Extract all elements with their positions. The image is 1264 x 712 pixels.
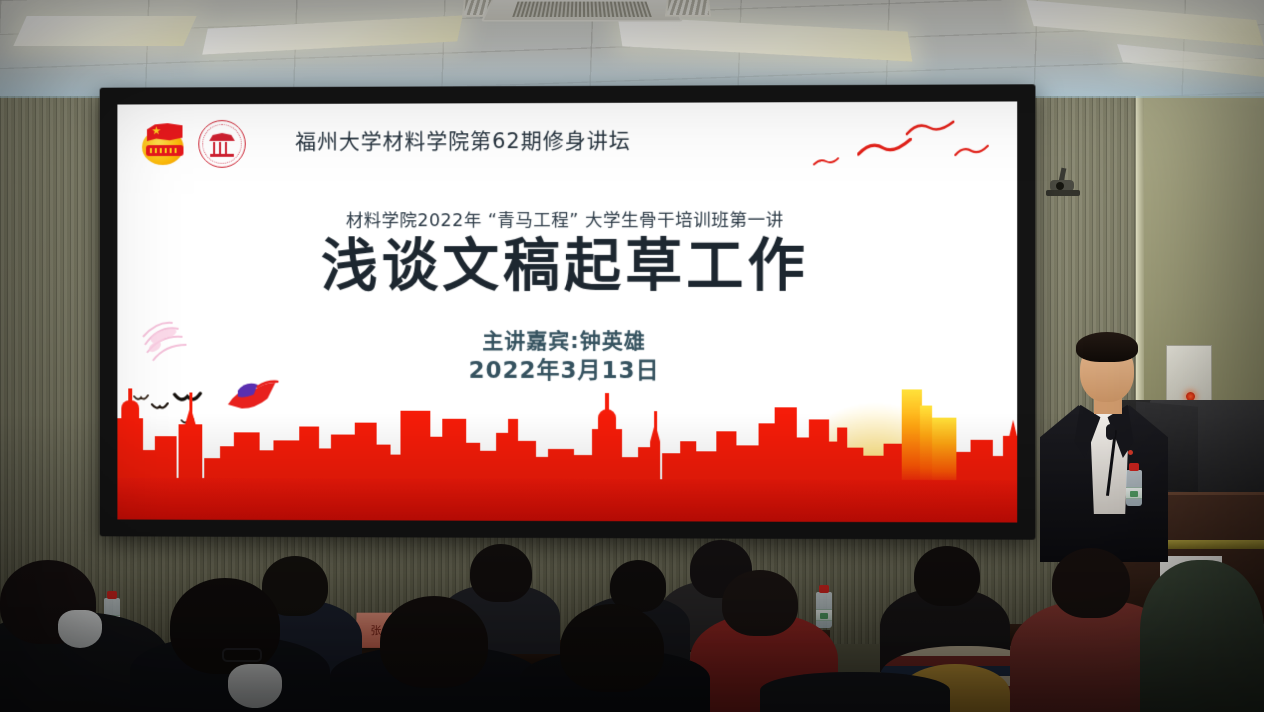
slide-title-text: 浅谈文稿起草工作 bbox=[117, 234, 1017, 298]
red-bird-icon bbox=[857, 138, 912, 160]
red-bird-icon bbox=[906, 120, 955, 140]
pink-flower-decoration bbox=[139, 315, 198, 367]
ac-vent-side bbox=[665, 0, 711, 16]
eyeglasses-icon bbox=[222, 648, 262, 662]
city-skyline-graphic bbox=[117, 390, 1017, 522]
lecture-hall-scene: 福州大学材料学院第62期修身讲坛 材料学院2022年 “青马工程” 大学生骨干培… bbox=[0, 0, 1264, 712]
presentation-slide: 福州大学材料学院第62期修身讲坛 材料学院2022年 “青马工程” 大学生骨干培… bbox=[117, 101, 1017, 522]
ceiling-light-panel bbox=[13, 16, 196, 46]
audience-head bbox=[380, 596, 488, 688]
communist-youth-league-emblem-icon bbox=[139, 121, 186, 167]
slide-header-text: 福州大学材料学院第62期修身讲坛 bbox=[295, 125, 631, 156]
audience-member-front bbox=[760, 672, 950, 712]
security-camera-icon bbox=[1046, 168, 1080, 200]
microphone-icon bbox=[1106, 424, 1115, 440]
audience-head bbox=[914, 546, 980, 606]
face-mask bbox=[58, 610, 102, 648]
ceiling-ac-vent bbox=[481, 0, 683, 22]
presenter-hair bbox=[1076, 332, 1138, 362]
red-bird-icon bbox=[954, 144, 988, 160]
presenter-lapel-pin bbox=[1128, 450, 1133, 455]
skyline-base bbox=[117, 478, 1017, 523]
water-bottle bbox=[1126, 470, 1142, 506]
audience-head bbox=[722, 570, 798, 636]
audience-head bbox=[470, 544, 532, 602]
red-bird-icon bbox=[813, 156, 839, 168]
slide-subtitle-text: 材料学院2022年 “青马工程” 大学生骨干培训班第一讲 bbox=[117, 206, 1017, 232]
presenter-person bbox=[1036, 330, 1166, 560]
fuzhou-university-seal-icon bbox=[198, 120, 245, 168]
presentation-display: 福州大学材料学院第62期修身讲坛 材料学院2022年 “青马工程” 大学生骨干培… bbox=[100, 84, 1036, 539]
audience-head bbox=[1052, 548, 1130, 618]
audience-head bbox=[560, 604, 664, 692]
audience-member-green bbox=[1140, 560, 1264, 712]
face-mask bbox=[228, 664, 282, 708]
slide-logo-row bbox=[139, 120, 246, 168]
